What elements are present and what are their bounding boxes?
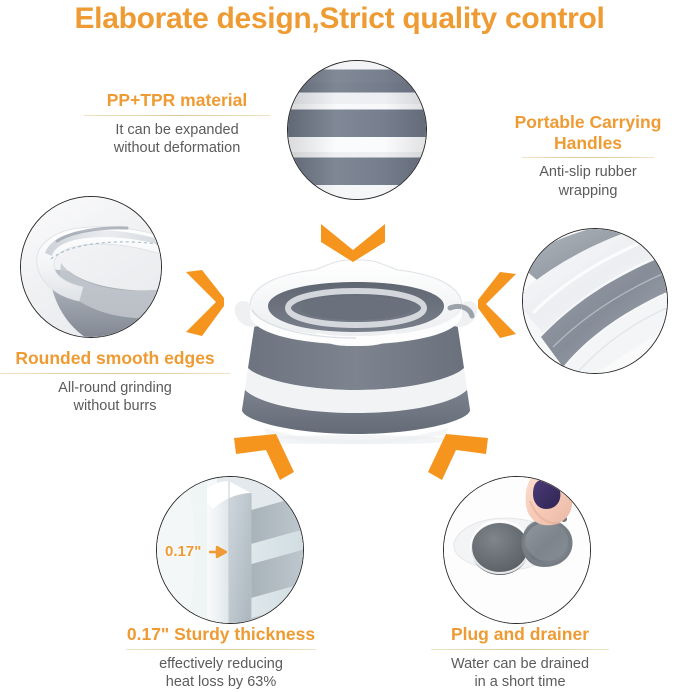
callout-handles-rule [522, 157, 654, 158]
callout-thickness-rule [126, 649, 316, 650]
callout-drainer-subtitle-line2: in a short time [414, 673, 626, 692]
arrow-product-to-thickness [232, 428, 298, 484]
rounded-rim-image [21, 197, 161, 337]
callout-edges: Rounded smooth edges All-round grinding … [0, 348, 230, 416]
arrow-edges-to-product [182, 268, 224, 340]
callout-handles-heading-line1: Portable Carrying [504, 112, 672, 133]
material-stripes-image [288, 61, 426, 199]
photo-circle-handles [522, 228, 668, 374]
wall-thickness-image: 0.17" [157, 477, 303, 623]
chevron-down-left-icon [232, 428, 298, 484]
callout-material-heading: PP+TPR material [84, 90, 270, 111]
handle-illustration [523, 229, 668, 374]
callout-material-subtitle-line1: It can be expanded [84, 121, 270, 140]
callout-thickness: 0.17" Sturdy thickness effectively reduc… [106, 624, 336, 692]
photo-circle-rounded-edges [20, 196, 162, 338]
callout-edges-rule [0, 373, 230, 374]
photo-circle-drainer [443, 476, 591, 624]
handle-band-image [523, 229, 667, 373]
chevron-left-icon [478, 270, 520, 342]
callout-handles-subtitle-line2: wrapping [504, 182, 672, 201]
collapsible-basket-illustration [228, 258, 484, 444]
callout-edges-heading: Rounded smooth edges [0, 348, 230, 369]
thickness-measure-label: 0.17" [165, 543, 201, 560]
chevron-right-icon [182, 268, 224, 340]
callout-material: PP+TPR material It can be expanded witho… [84, 90, 270, 158]
arrow-material-to-product [317, 220, 389, 262]
page-title: Elaborate design,Strict quality control [0, 2, 679, 36]
drain-plug-image [444, 477, 590, 623]
callout-material-subtitle-line2: without deformation [84, 139, 270, 158]
photo-circle-thickness: 0.17" [156, 476, 304, 624]
arrow-handles-to-product [478, 270, 520, 342]
infographic-canvas: Elaborate design,Strict quality control [0, 0, 679, 692]
callout-thickness-subtitle-line1: effectively reducing [106, 655, 336, 674]
drain-illustration [444, 477, 591, 624]
callout-handles-heading-line2: Handles [504, 133, 672, 154]
callout-edges-subtitle-line2: without burrs [0, 397, 230, 416]
photo-circle-material [287, 60, 427, 200]
callout-drainer-rule [431, 649, 609, 650]
arrow-product-to-drainer [424, 428, 490, 484]
product-image [228, 258, 484, 444]
callout-handles-subtitle-line1: Anti-slip rubber [504, 163, 672, 182]
chevron-down-right-icon [424, 428, 490, 484]
callout-drainer: Plug and drainer Water can be drained in… [414, 624, 626, 692]
rim-illustration [21, 197, 162, 338]
callout-thickness-subtitle-line2: heat loss by 63% [106, 673, 336, 692]
callout-drainer-subtitle-line1: Water can be drained [414, 655, 626, 674]
callout-thickness-heading: 0.17" Sturdy thickness [106, 624, 336, 645]
chevron-down-icon [317, 220, 389, 262]
callout-material-rule [84, 115, 270, 116]
callout-edges-subtitle-line1: All-round grinding [0, 379, 230, 398]
callout-handles: Portable Carrying Handles Anti-slip rubb… [504, 112, 672, 201]
thickness-measure-arrow-icon [209, 545, 231, 559]
callout-drainer-heading: Plug and drainer [414, 624, 626, 645]
